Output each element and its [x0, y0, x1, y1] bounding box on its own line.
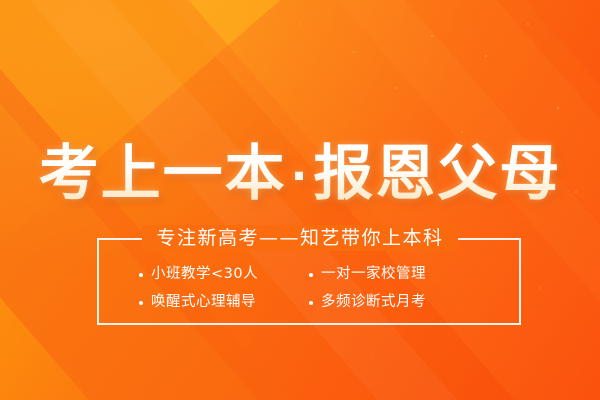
- feature-label: 小班教学<30人: [151, 262, 258, 287]
- headline: 考上一本·报恩父母: [39, 140, 562, 211]
- feature-label: 一对一家校管理: [321, 262, 426, 287]
- bullet-icon: [139, 301, 143, 305]
- bullet-icon: [309, 301, 313, 305]
- list-item: 小班教学<30人: [139, 262, 309, 287]
- list-item: 唤醒式心理辅导: [139, 290, 309, 315]
- headline-right-text: 报恩父母: [313, 139, 561, 209]
- list-item: 一对一家校管理: [309, 262, 479, 287]
- feature-label: 多频诊断式月考: [321, 290, 426, 315]
- headline-left-text: 考上一本: [39, 139, 287, 209]
- headline-separator-dot: ·: [287, 151, 314, 202]
- promo-banner: 考上一本·报恩父母 专注新高考——知艺带你上本科 小班教学<30人 一对一家校管…: [0, 0, 600, 400]
- feature-list: 小班教学<30人 一对一家校管理 唤醒式心理辅导 多频诊断式月考: [97, 262, 521, 315]
- headline-container: 考上一本·报恩父母: [0, 140, 600, 211]
- subtitle-container: 专注新高考——知艺带你上本科: [0, 225, 600, 251]
- list-item: 多频诊断式月考: [309, 290, 479, 315]
- subtitle: 专注新高考——知艺带你上本科: [142, 225, 457, 251]
- bullet-icon: [139, 273, 143, 277]
- feature-label: 唤醒式心理辅导: [151, 290, 256, 315]
- bullet-icon: [309, 273, 313, 277]
